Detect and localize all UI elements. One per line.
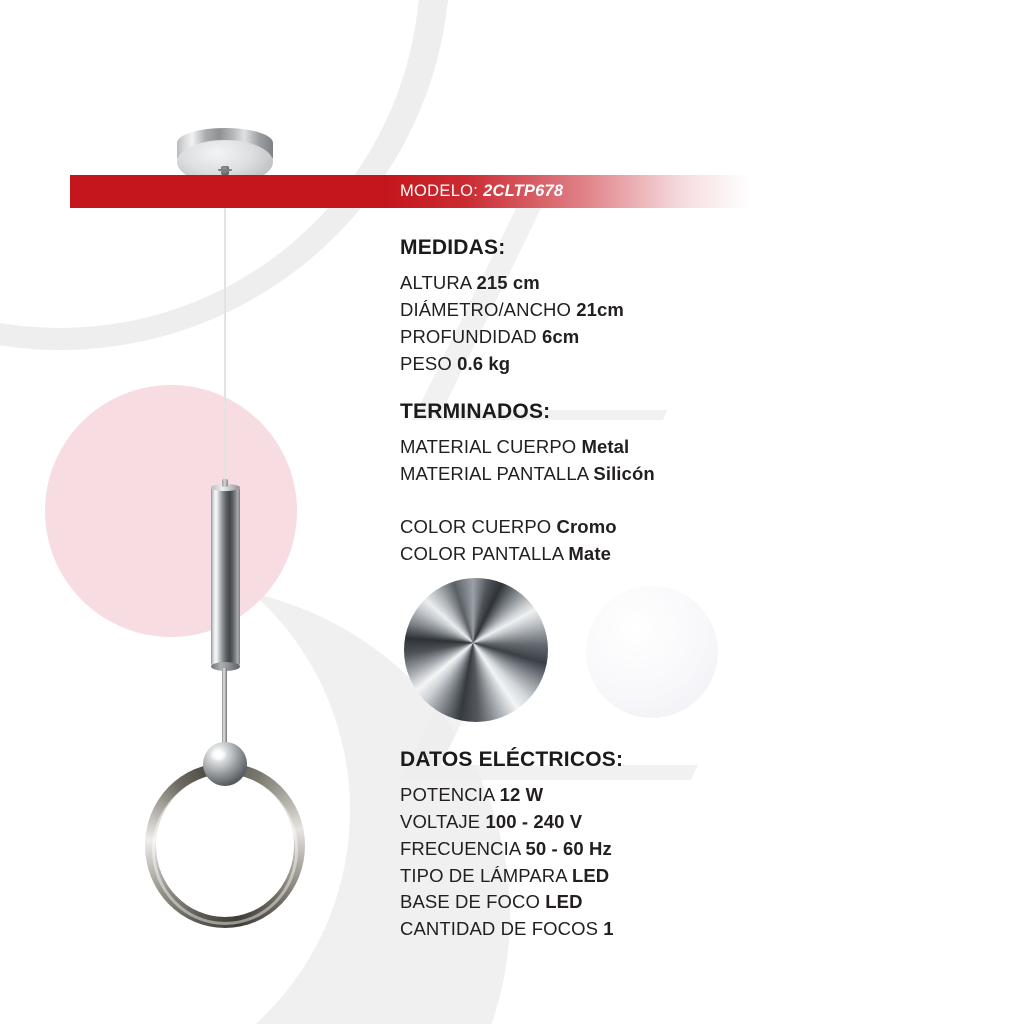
spec-label-material-cuerpo: MATERIAL CUERPO bbox=[400, 436, 576, 457]
chrome-sphere-joint bbox=[203, 742, 247, 786]
spec-label-altura: ALTURA bbox=[400, 272, 471, 293]
chrome-cylinder-tip bbox=[222, 479, 228, 487]
spec-value-color-cuerpo: Cromo bbox=[557, 516, 617, 537]
spec-label-diametro: DIÁMETRO/ANCHO bbox=[400, 299, 571, 320]
spec-row-cantidad-focos: CANTIDAD DE FOCOS 1 bbox=[400, 916, 820, 943]
canopy-screw-fitting bbox=[221, 166, 229, 175]
spec-row-potencia: POTENCIA 12 W bbox=[400, 782, 820, 809]
model-banner: MODELO: 2CLTP678 bbox=[70, 175, 750, 208]
spec-label-potencia: POTENCIA bbox=[400, 784, 494, 805]
spec-row-frecuencia: FRECUENCIA 50 - 60 Hz bbox=[400, 836, 820, 863]
spec-row-material-pantalla: MATERIAL PANTALLA Silicón bbox=[400, 461, 820, 488]
section-datos-electricos: DATOS ELÉCTRICOS: POTENCIA 12 W VOLTAJE … bbox=[400, 748, 820, 943]
section-terminados: TERMINADOS: MATERIAL CUERPO Metal MATERI… bbox=[400, 400, 820, 567]
model-label: MODELO: bbox=[400, 182, 478, 200]
spec-value-base-foco: LED bbox=[545, 891, 582, 912]
swatch-mate bbox=[586, 586, 718, 718]
spec-label-cantidad-focos: CANTIDAD DE FOCOS bbox=[400, 918, 598, 939]
spec-row-voltaje: VOLTAJE 100 - 240 V bbox=[400, 809, 820, 836]
spec-label-color-cuerpo: COLOR CUERPO bbox=[400, 516, 551, 537]
spec-row-color-cuerpo: COLOR CUERPO Cromo bbox=[400, 514, 820, 541]
spec-label-color-pantalla: COLOR PANTALLA bbox=[400, 543, 563, 564]
spec-value-cantidad-focos: 1 bbox=[603, 918, 613, 939]
spec-value-material-cuerpo: Metal bbox=[582, 436, 630, 457]
spec-label-base-foco: BASE DE FOCO bbox=[400, 891, 540, 912]
model-value: 2CLTP678 bbox=[483, 182, 563, 200]
terminados-heading: TERMINADOS: bbox=[400, 400, 820, 424]
terminados-colors: COLOR CUERPO Cromo COLOR PANTALLA Mate bbox=[400, 514, 820, 568]
spec-row-base-foco: BASE DE FOCO LED bbox=[400, 889, 820, 916]
spec-value-tipo-lampara: LED bbox=[572, 865, 609, 886]
chrome-cylinder-body bbox=[211, 487, 240, 667]
spec-value-profundidad: 6cm bbox=[542, 326, 579, 347]
color-swatch-group bbox=[404, 578, 734, 728]
spec-label-tipo-lampara: TIPO DE LÁMPARA bbox=[400, 865, 567, 886]
model-text: MODELO: 2CLTP678 bbox=[400, 182, 563, 201]
spec-row-diametro: DIÁMETRO/ANCHO 21cm bbox=[400, 297, 820, 324]
spec-value-peso: 0.6 kg bbox=[457, 353, 510, 374]
spec-value-altura: 215 cm bbox=[476, 272, 539, 293]
spec-value-material-pantalla: Silicón bbox=[593, 463, 654, 484]
swatch-cromo bbox=[404, 578, 548, 722]
product-image-pendant-lamp bbox=[0, 0, 400, 1024]
terminados-materials: MATERIAL CUERPO Metal MATERIAL PANTALLA … bbox=[400, 434, 820, 488]
spec-label-voltaje: VOLTAJE bbox=[400, 811, 480, 832]
datos-electricos-rows: POTENCIA 12 W VOLTAJE 100 - 240 V FRECUE… bbox=[400, 782, 820, 943]
chrome-ring-shade bbox=[145, 763, 305, 928]
spec-row-profundidad: PROFUNDIDAD 6cm bbox=[400, 324, 820, 351]
suspension-cable bbox=[224, 175, 226, 487]
spec-value-voltaje: 100 - 240 V bbox=[485, 811, 582, 832]
spec-row-altura: ALTURA 215 cm bbox=[400, 270, 820, 297]
spec-row-tipo-lampara: TIPO DE LÁMPARA LED bbox=[400, 863, 820, 890]
spec-value-frecuencia: 50 - 60 Hz bbox=[526, 838, 612, 859]
spec-label-profundidad: PROFUNDIDAD bbox=[400, 326, 537, 347]
medidas-heading: MEDIDAS: bbox=[400, 236, 820, 260]
spec-value-diametro: 21cm bbox=[576, 299, 624, 320]
spec-label-frecuencia: FRECUENCIA bbox=[400, 838, 520, 859]
chrome-connecting-rod bbox=[222, 668, 227, 753]
spec-row-material-cuerpo: MATERIAL CUERPO Metal bbox=[400, 434, 820, 461]
spec-label-peso: PESO bbox=[400, 353, 452, 374]
product-spec-sheet: MODELO: 2CLTP678 MEDIDAS: ALTURA 215 cm … bbox=[0, 0, 1024, 1024]
datos-electricos-heading: DATOS ELÉCTRICOS: bbox=[400, 748, 820, 772]
section-medidas: MEDIDAS: ALTURA 215 cm DIÁMETRO/ANCHO 21… bbox=[400, 236, 820, 409]
chrome-sphere-glint bbox=[212, 750, 225, 760]
spec-value-potencia: 12 W bbox=[500, 784, 544, 805]
spec-row-peso: PESO 0.6 kg bbox=[400, 351, 820, 378]
medidas-rows: ALTURA 215 cm DIÁMETRO/ANCHO 21cm PROFUN… bbox=[400, 270, 820, 377]
spec-row-color-pantalla: COLOR PANTALLA Mate bbox=[400, 541, 820, 568]
spec-value-color-pantalla: Mate bbox=[568, 543, 611, 564]
spec-label-material-pantalla: MATERIAL PANTALLA bbox=[400, 463, 588, 484]
